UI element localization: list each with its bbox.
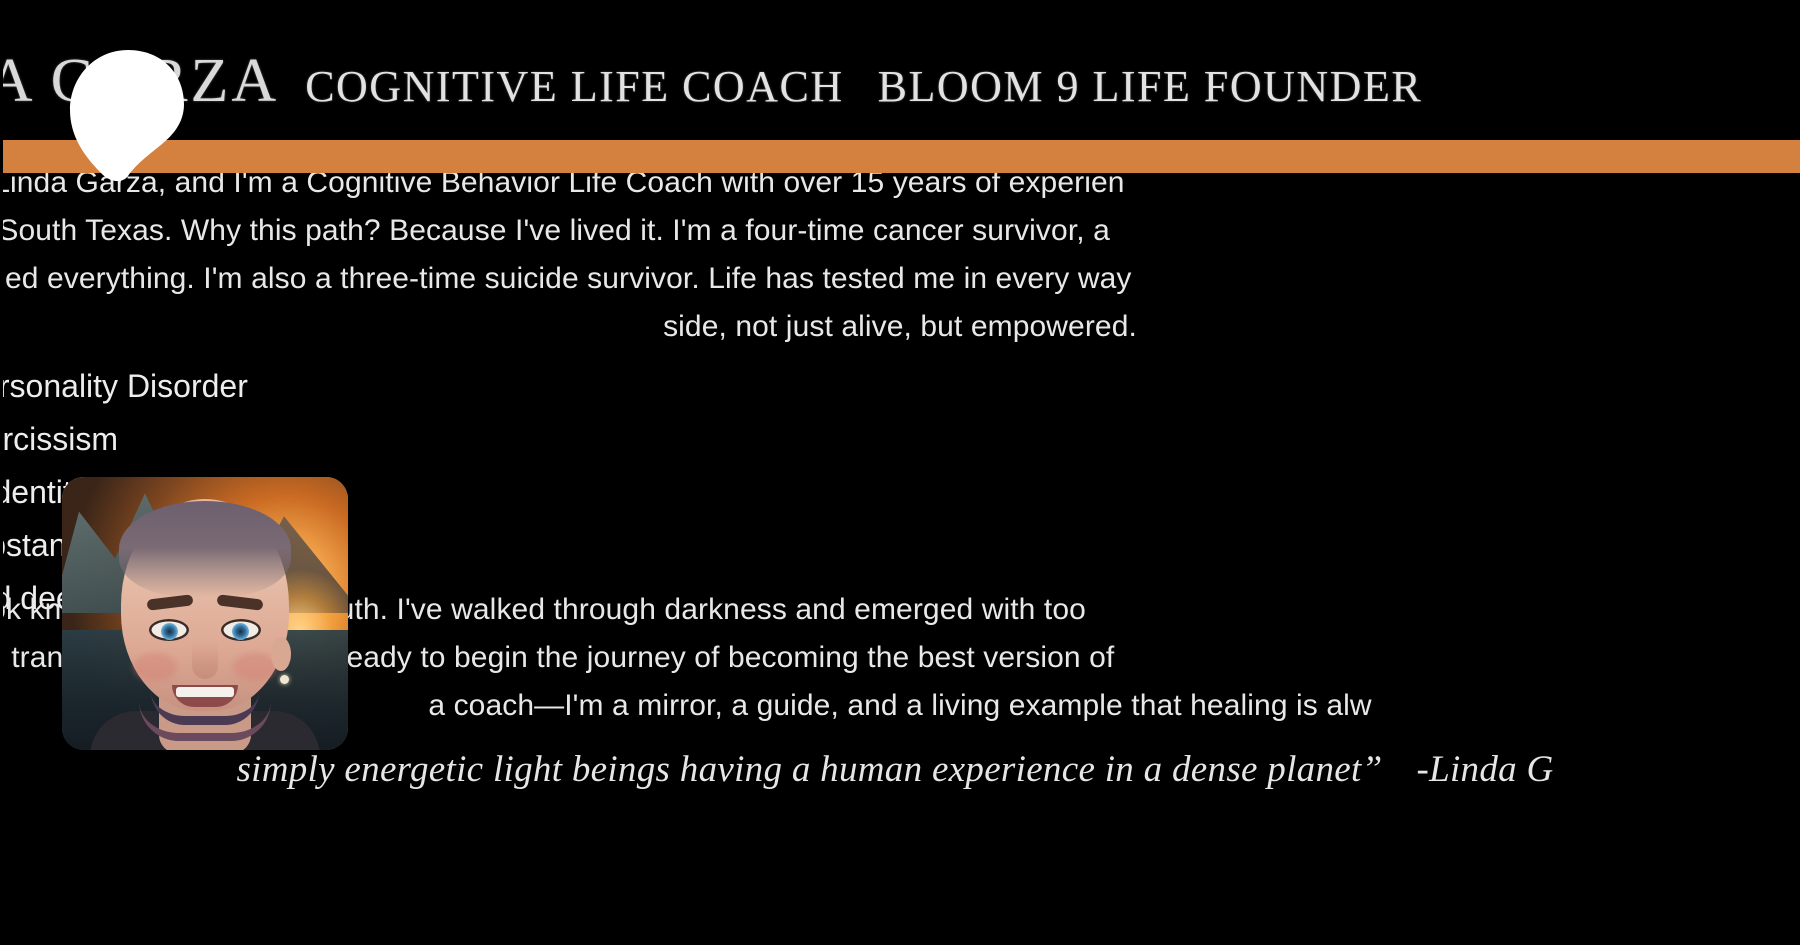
list-item: Borderline Personality Disorder [0, 365, 248, 407]
webcam-person [107, 493, 303, 750]
iris-right [232, 623, 249, 640]
iris-left [161, 623, 178, 640]
intro-paragraph: lo, my name is Linda Garza, and I'm a Co… [0, 173, 1800, 351]
hair [119, 501, 291, 597]
intro-line-2: ospitals across South Texas. Why this pa… [0, 207, 1800, 255]
quote-text: simply energetic light beings having a h… [236, 749, 1382, 790]
mouth [172, 685, 238, 707]
capture-edge [0, 0, 3, 945]
intro-line-3: ence that changed everything. I'm also a… [0, 255, 1800, 303]
closing-quote: simply energetic light beings having a h… [0, 748, 1800, 791]
earring [280, 675, 289, 684]
ear-right [271, 637, 291, 671]
eyebrow-left [147, 595, 194, 612]
intro-line-4: side, not just alive, but empowered. [0, 303, 1800, 351]
site-header: DA GARZA COGNITIVE LIFE COACH BLOOM 9 LI… [0, 0, 1800, 140]
cheek-left [133, 653, 177, 681]
teeth [176, 687, 234, 697]
accent-divider-bar [0, 140, 1800, 173]
quote-author: -Linda G [1416, 749, 1553, 790]
header-title-row: DA GARZA COGNITIVE LIFE COACH BLOOM 9 LI… [0, 46, 1422, 117]
eyebrow-right [217, 595, 264, 612]
nose [192, 641, 218, 679]
head [121, 499, 289, 711]
brand-name: DA GARZA [0, 46, 279, 117]
webcam-overlay[interactable] [62, 477, 348, 750]
header-title-cognitive-life-coach: COGNITIVE LIFE COACH [305, 61, 843, 112]
screen-share-canvas: DA GARZA COGNITIVE LIFE COACH BLOOM 9 LI… [0, 0, 1800, 945]
list-item: Grandiose Narcissism [0, 418, 248, 460]
intro-line-1: lo, my name is Linda Garza, and I'm a Co… [0, 173, 1800, 207]
header-title-bloom-9-life-founder: BLOOM 9 LIFE FOUNDER [878, 61, 1423, 112]
